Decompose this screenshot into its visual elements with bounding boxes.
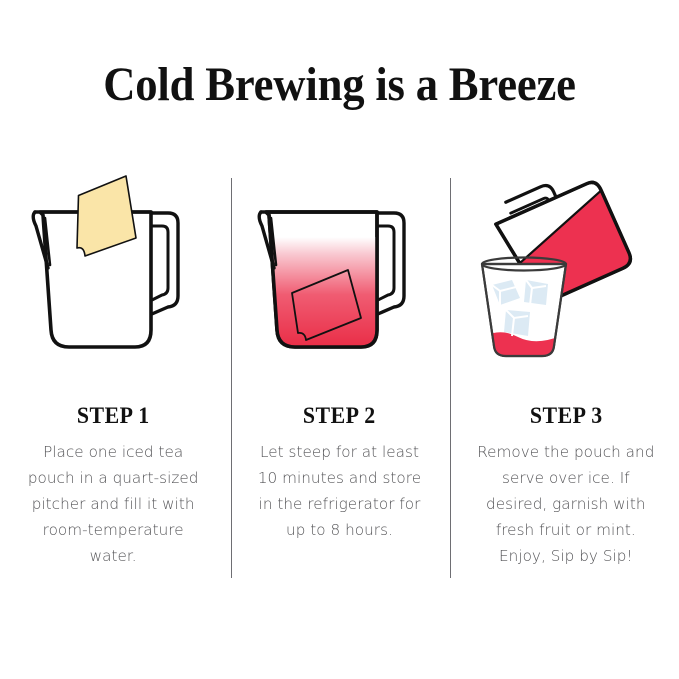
step-1-body: Place one iced tea pouch in a quart-size…	[22, 439, 204, 569]
infographic-page: Cold Brewing is a Breeze	[0, 0, 679, 679]
step-3-body: Remove the pouch and serve over ice. If …	[475, 439, 657, 569]
step-2-label: STEP 2	[303, 403, 376, 429]
step-1-label: STEP 1	[77, 403, 150, 429]
step-2-illustration	[226, 160, 452, 385]
pitcher-with-tea-pouch-icon	[18, 160, 208, 375]
step-column-2: STEP 2 Let steep for at least 10 minutes…	[226, 160, 452, 590]
steps-container: STEP 1 Place one iced tea pouch in a qua…	[0, 160, 679, 590]
pitcher-filled-steeping-icon	[244, 160, 434, 375]
step-2-body: Let steep for at least 10 minutes and st…	[248, 439, 430, 543]
pouring-into-iced-glass-icon	[466, 160, 666, 375]
step-1-illustration	[0, 160, 226, 385]
step-column-3: STEP 3 Remove the pouch and serve over i…	[453, 160, 679, 590]
page-title: Cold Brewing is a Breeze	[24, 57, 655, 112]
step-column-1: STEP 1 Place one iced tea pouch in a qua…	[0, 160, 226, 590]
step-3-label: STEP 3	[529, 403, 602, 429]
step-3-illustration	[453, 160, 679, 385]
